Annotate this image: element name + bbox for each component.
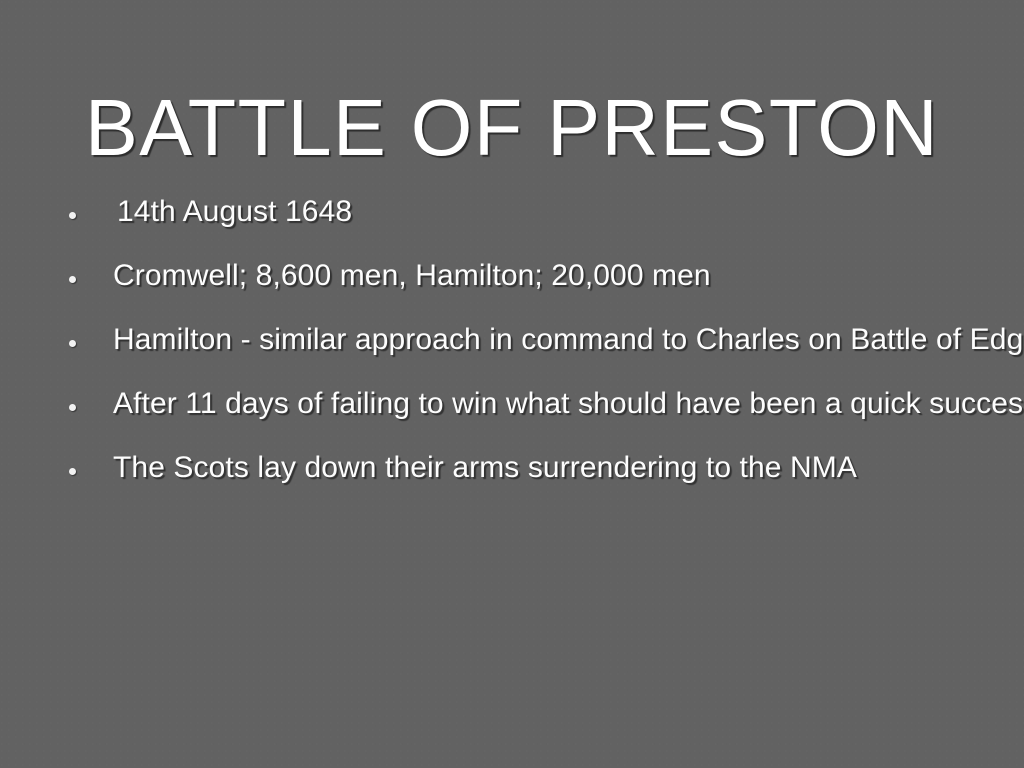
bullet-dot-icon — [69, 468, 76, 475]
bullet-item-label: 14th August 1648 — [117, 186, 352, 250]
bullet-item-label: Cromwell; 8,600 men, Hamilton; 20,000 me… — [113, 250, 711, 314]
bullet-item: After 11 days of failing to win what sho… — [0, 378, 1024, 442]
bullet-item-label: The Scots lay down their arms surrenderi… — [113, 442, 857, 506]
bullet-item-label: Hamilton - similar approach in command t… — [113, 314, 1024, 378]
bullet-dot-icon — [69, 276, 76, 283]
slide-title: BATTLE OF PRESTON — [5, 88, 1019, 168]
bullet-dot-icon — [69, 404, 76, 411]
presentation-slide: BATTLE OF PRESTON 14th August 1648 Cromw… — [0, 0, 1024, 768]
bullet-dot-icon — [69, 340, 76, 347]
bullet-dot-icon — [69, 212, 76, 219]
bullet-item: The Scots lay down their arms surrenderi… — [0, 442, 1024, 506]
bullet-item: Cromwell; 8,600 men, Hamilton; 20,000 me… — [0, 250, 1024, 314]
bullet-item: Hamilton - similar approach in command t… — [0, 314, 1024, 378]
bullet-item: 14th August 1648 — [0, 186, 1024, 250]
bullet-item-label: After 11 days of failing to win what sho… — [113, 378, 1024, 442]
bullet-list: 14th August 1648 Cromwell; 8,600 men, Ha… — [0, 186, 1024, 506]
